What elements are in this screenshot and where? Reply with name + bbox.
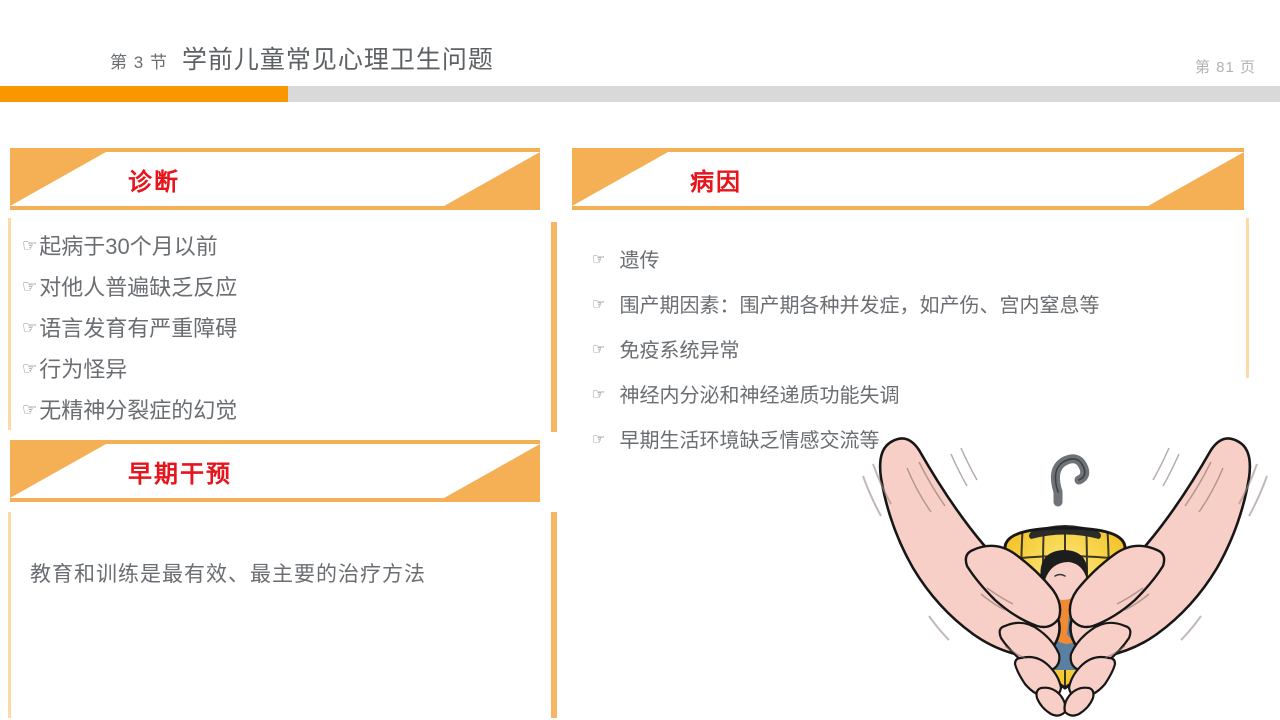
- diagnosis-header-ribbon: 诊断: [10, 148, 540, 210]
- intervention-heading: 早期干预: [128, 440, 232, 502]
- pointing-hand-icon: ☞: [22, 278, 37, 295]
- center-divider-bar-upper: [551, 222, 557, 432]
- page-title: 第 3 节 学前儿童常见心理卫生问题: [110, 40, 494, 76]
- ribbon-corner-triangle-bottom-right: [444, 444, 540, 498]
- hands-heart-birdcage-illustration: [855, 420, 1275, 720]
- title-text: 学前儿童常见心理卫生问题: [182, 40, 494, 76]
- list-item-label: 遗传: [619, 248, 659, 274]
- right-hand: [1065, 438, 1250, 715]
- left-panel-accent-line: [8, 218, 11, 430]
- ribbon-corner-triangle-top-left: [572, 152, 668, 206]
- ribbon-top-rule: [572, 148, 1244, 152]
- list-item-label: 神经内分泌和神经递质功能失调: [619, 383, 899, 409]
- center-divider-bar-lower: [551, 512, 557, 718]
- list-item-label: 行为怪异: [39, 355, 127, 385]
- list-item-label: 语言发育有严重障碍: [39, 314, 237, 344]
- cage-hook-icon: [1055, 459, 1084, 502]
- slide-canvas: 第 3 节 学前儿童常见心理卫生问题 第 81 页 诊断 ☞ 起病于30个月以前…: [0, 0, 1280, 720]
- list-item: ☞ 围产期因素：围产期各种并发症，如产伤、宫内窒息等: [592, 293, 1099, 319]
- list-item: ☞ 无精神分裂症的幻觉: [22, 396, 237, 426]
- list-item: ☞ 对他人普遍缺乏反应: [22, 273, 237, 303]
- ribbon-top-rule: [10, 148, 540, 152]
- pointing-hand-icon: ☞: [22, 237, 37, 254]
- list-item: ☞ 神经内分泌和神经递质功能失调: [592, 383, 1099, 409]
- right-panel-accent-line: [1246, 218, 1249, 378]
- ribbon-corner-triangle-bottom-right: [1148, 152, 1244, 206]
- list-item-label: 无精神分裂症的幻觉: [39, 396, 237, 426]
- list-item: ☞ 行为怪异: [22, 355, 237, 385]
- pointing-hand-icon: ☞: [592, 297, 605, 312]
- ribbon-bottom-rule: [572, 206, 1244, 210]
- pointing-hand-icon: ☞: [592, 387, 605, 402]
- pointing-hand-icon: ☞: [592, 342, 605, 357]
- ribbon-bottom-rule: [10, 498, 540, 502]
- ribbon-corner-triangle-top-left: [10, 444, 106, 498]
- ribbon-bottom-rule: [10, 206, 540, 210]
- diagnosis-heading: 诊断: [128, 148, 180, 210]
- cause-header-ribbon: 病因: [572, 148, 1244, 210]
- pointing-hand-icon: ☞: [592, 432, 605, 447]
- list-item: ☞ 起病于30个月以前: [22, 232, 237, 262]
- pointing-hand-icon: ☞: [22, 319, 37, 336]
- intervention-paragraph: 教育和训练是最有效、最主要的治疗方法: [30, 558, 426, 588]
- list-item: ☞ 免疫系统异常: [592, 338, 1099, 364]
- page-number: 第 81 页: [1195, 56, 1256, 77]
- list-item-label: 早期生活环境缺乏情感交流等: [619, 428, 879, 454]
- pointing-hand-icon: ☞: [22, 360, 37, 377]
- cause-heading: 病因: [690, 148, 742, 210]
- ribbon-corner-triangle-top-left: [10, 152, 106, 206]
- list-item: ☞ 遗传: [592, 248, 1099, 274]
- list-item-label: 围产期因素：围产期各种并发症，如产伤、宫内窒息等: [619, 293, 1099, 319]
- list-item-label: 免疫系统异常: [619, 338, 739, 364]
- intervention-header-ribbon: 早期干预: [10, 440, 540, 502]
- top-accent-bar-orange: [0, 86, 288, 102]
- section-label: 第 3 节: [110, 48, 168, 73]
- ribbon-top-rule: [10, 440, 540, 444]
- pointing-hand-icon: ☞: [22, 401, 37, 418]
- ribbon-corner-triangle-bottom-right: [444, 152, 540, 206]
- top-accent-bar-grey: [288, 86, 1280, 102]
- left-panel-accent-line-lower: [8, 512, 11, 718]
- left-hand: [880, 438, 1065, 715]
- diagnosis-bullet-list: ☞ 起病于30个月以前 ☞ 对他人普遍缺乏反应 ☞ 语言发育有严重障碍 ☞ 行为…: [22, 232, 237, 437]
- pointing-hand-icon: ☞: [592, 252, 605, 267]
- list-item-label: 对他人普遍缺乏反应: [39, 273, 237, 303]
- list-item: ☞ 语言发育有严重障碍: [22, 314, 237, 344]
- list-item-label: 起病于30个月以前: [39, 232, 217, 262]
